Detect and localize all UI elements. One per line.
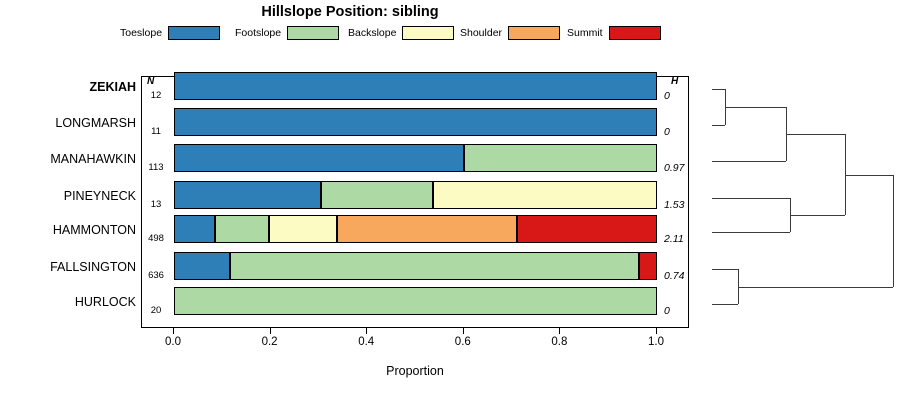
dendro-branch-ph-up xyxy=(790,215,845,216)
x-tick-label: 0.6 xyxy=(455,336,471,348)
n-value: 636 xyxy=(143,270,169,281)
n-value: 498 xyxy=(143,233,169,244)
legend-item-backslope: Backslope xyxy=(348,24,454,42)
n-value: 113 xyxy=(143,162,169,173)
n-value: 12 xyxy=(143,90,169,101)
x-axis-title: Proportion xyxy=(141,364,689,378)
x-tick-label: 0.0 xyxy=(165,336,181,348)
bar-row xyxy=(142,287,690,323)
dendro-branch-longmarsh xyxy=(712,125,725,126)
dendrogram xyxy=(690,70,900,330)
bar-row xyxy=(142,144,690,180)
bar-segment-footslope xyxy=(215,215,269,243)
legend-item-shoulder: Shoulder xyxy=(460,24,560,42)
chart-root: Hillslope Position: sibling ToeslopeFoot… xyxy=(0,0,900,400)
chart-title: Hillslope Position: sibling xyxy=(0,4,700,20)
legend-swatch-footslope xyxy=(287,26,339,40)
y-axis-label-fallsington: FALLSINGTON xyxy=(50,260,136,274)
dendro-branch-manahawkin xyxy=(712,161,786,162)
plot-panel xyxy=(141,76,689,328)
x-tick-label: 0.4 xyxy=(358,336,374,348)
bar-segment-toeslope xyxy=(174,181,321,209)
legend-label: Backslope xyxy=(348,27,396,39)
bar-segment-toeslope xyxy=(174,108,657,136)
x-tick xyxy=(656,328,657,334)
bar-row xyxy=(142,181,690,217)
x-tick-label: 1.0 xyxy=(648,336,664,348)
bar-segment-footslope xyxy=(464,144,657,172)
h-value: 0.97 xyxy=(664,162,684,174)
h-value: 0 xyxy=(664,126,670,138)
bar-segment-toeslope xyxy=(174,215,215,243)
legend-swatch-backslope xyxy=(402,26,454,40)
bar-segment-backslope xyxy=(269,215,337,243)
dendro-join-root xyxy=(893,175,894,287)
dendro-branch-pineyneck xyxy=(712,198,790,199)
legend-swatch-toeslope xyxy=(168,26,220,40)
dendro-branch-fallsington xyxy=(712,269,738,270)
x-tick-label: 0.8 xyxy=(551,336,567,348)
n-value: 11 xyxy=(143,126,169,137)
legend-label: Footslope xyxy=(235,27,281,39)
y-axis-label-longmarsh: LONGMARSH xyxy=(55,116,136,130)
x-tick xyxy=(366,328,367,334)
bar-row xyxy=(142,252,690,288)
legend: ToeslopeFootslopeBackslopeShoulderSummit xyxy=(120,24,720,42)
x-tick xyxy=(173,328,174,334)
h-column-header: H xyxy=(671,76,678,87)
bar-segment-footslope xyxy=(174,287,657,315)
bar-row xyxy=(142,72,690,108)
n-value: 13 xyxy=(143,199,169,210)
legend-swatch-summit xyxy=(609,26,661,40)
x-tick xyxy=(463,328,464,334)
y-axis-label-hurlock: HURLOCK xyxy=(75,295,136,309)
dendro-branch-hurlock xyxy=(712,304,738,305)
bar-segment-summit xyxy=(517,215,657,243)
h-value: 0 xyxy=(664,305,670,317)
dendro-branch-upper-root xyxy=(845,175,893,176)
legend-item-footslope: Footslope xyxy=(235,24,339,42)
bar-segment-footslope xyxy=(321,181,433,209)
y-axis-label-zekiah: ZEKIAH xyxy=(89,80,136,94)
bar-segment-toeslope xyxy=(174,72,657,100)
bar-segment-backslope xyxy=(433,181,657,209)
dendro-branch-fh-root xyxy=(738,287,893,288)
x-axis: 0.00.20.40.60.81.0 xyxy=(141,328,689,329)
bar-segment-toeslope xyxy=(174,252,230,280)
bar-segment-toeslope xyxy=(174,144,464,172)
legend-label: Summit xyxy=(567,27,603,39)
dendro-branch-zekiah xyxy=(712,89,725,90)
h-value: 2.11 xyxy=(664,233,684,245)
bar-segment-shoulder xyxy=(337,215,517,243)
bar-row xyxy=(142,215,690,251)
x-tick-label: 0.2 xyxy=(262,336,278,348)
legend-swatch-shoulder xyxy=(508,26,560,40)
y-axis-label-pineyneck: PINEYNECK xyxy=(64,189,136,203)
h-value: 1.53 xyxy=(664,199,684,211)
y-axis-label-manahawkin: MANAHAWKIN xyxy=(50,152,136,166)
x-tick xyxy=(270,328,271,334)
h-value: 0 xyxy=(664,90,670,102)
n-value: 20 xyxy=(143,305,169,316)
bar-segment-summit xyxy=(639,252,657,280)
legend-item-summit: Summit xyxy=(567,24,661,42)
x-tick xyxy=(559,328,560,334)
n-column-header: N xyxy=(147,76,154,87)
y-axis-label-hammonton: HAMMONTON xyxy=(53,223,136,237)
legend-label: Shoulder xyxy=(460,27,502,39)
dendro-branch-hammonton xyxy=(712,232,790,233)
legend-label: Toeslope xyxy=(120,27,162,39)
bar-row xyxy=(142,108,690,144)
dendro-branch-zlm-up xyxy=(786,134,845,135)
bar-segment-footslope xyxy=(230,252,639,280)
legend-item-toeslope: Toeslope xyxy=(120,24,220,42)
dendro-branch-zl xyxy=(725,107,786,108)
h-value: 0.74 xyxy=(664,270,684,282)
